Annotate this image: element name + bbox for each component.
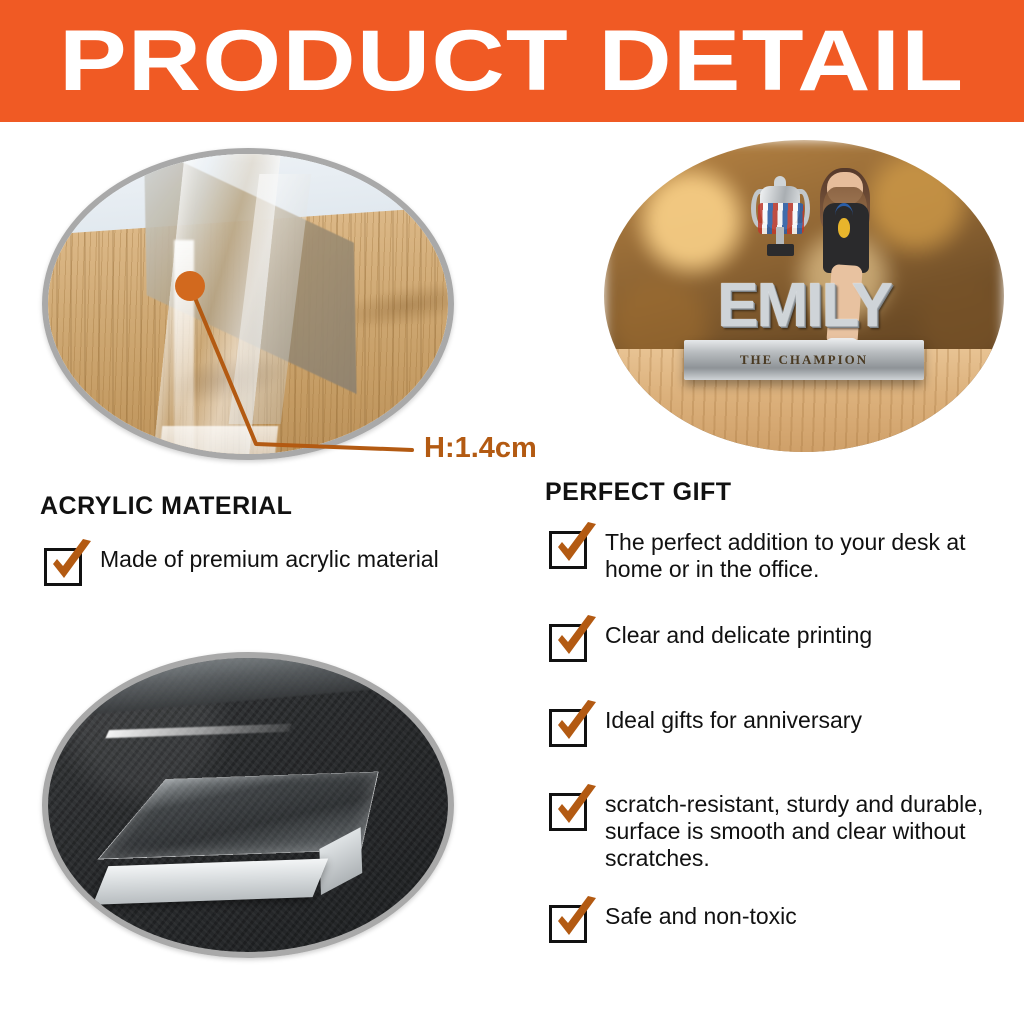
feature-text: scratch-resistant, sturdy and durable, s… <box>605 791 1009 872</box>
feature-item: Ideal gifts for anniversary <box>549 707 1004 747</box>
checkmark-icon <box>46 538 96 586</box>
section-heading-perfect-gift: PERFECT GIFT <box>545 478 732 507</box>
feature-item: Clear and delicate printing <box>549 622 1004 662</box>
feature-text: Safe and non-toxic <box>605 903 797 930</box>
feature-text: Made of premium acrylic material <box>100 546 439 573</box>
height-dimension-label: H:1.4cm <box>424 432 537 465</box>
trophy-cup-icon <box>757 176 805 261</box>
header-banner: PRODUCT DETAIL <box>0 0 1024 122</box>
checkbox-checked-icon <box>549 709 587 747</box>
feature-item: Safe and non-toxic <box>549 903 1004 943</box>
trophy-base: THE CHAMPION <box>684 340 924 381</box>
checkbox-checked-icon <box>549 624 587 662</box>
medal <box>838 218 850 237</box>
acrylic-block <box>93 711 361 910</box>
checkbox-checked-icon <box>549 793 587 831</box>
checkmark-icon <box>551 895 601 943</box>
block-front-edge <box>93 858 329 904</box>
emily-trophy-photo: EMILY THE CHAMPION <box>604 140 1004 452</box>
acrylic-base-reflection <box>158 426 278 460</box>
checkbox-checked-icon <box>549 531 587 569</box>
checkmark-icon <box>551 699 601 747</box>
checkmark-icon <box>551 614 601 662</box>
checkbox-checked-icon <box>44 548 82 586</box>
feature-item: Made of premium acrylic material <box>44 546 514 586</box>
acrylic-block-photo <box>42 652 454 958</box>
checkbox-checked-icon <box>549 905 587 943</box>
product-detail-page: PRODUCT DETAIL <box>0 0 1024 1024</box>
trophy-base-text: THE CHAMPION <box>740 352 868 368</box>
photo-scene <box>48 154 448 454</box>
page-title: PRODUCT DETAIL <box>59 18 964 104</box>
block-gloss-highlight <box>105 724 292 739</box>
trophy-stem <box>776 227 785 246</box>
checkmark-icon <box>551 783 601 831</box>
nameplate-text: EMILY <box>684 262 924 349</box>
feature-text: Ideal gifts for anniversary <box>605 707 862 734</box>
feature-text: The perfect addition to your desk at hom… <box>605 529 1004 583</box>
feature-item: scratch-resistant, sturdy and durable, s… <box>549 791 1009 872</box>
slate-edge <box>42 652 454 720</box>
trophy-foot <box>767 244 794 256</box>
acrylic-edge-photo <box>42 148 454 460</box>
feature-item: The perfect addition to your desk at hom… <box>549 529 1004 583</box>
checkmark-icon <box>551 521 601 569</box>
feature-text: Clear and delicate printing <box>605 622 872 649</box>
section-heading-acrylic-material: ACRYLIC MATERIAL <box>40 492 292 521</box>
